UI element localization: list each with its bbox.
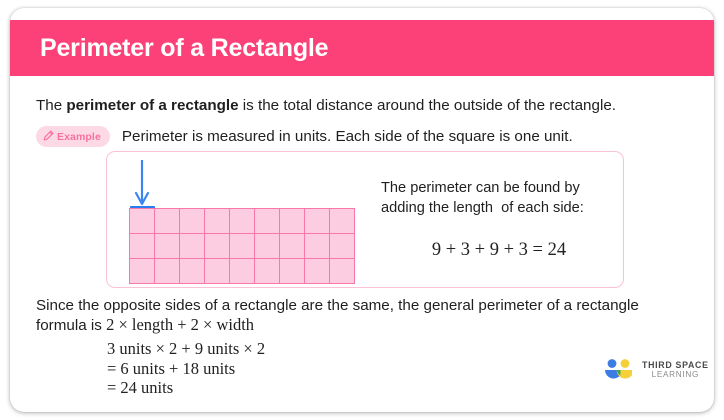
grid-cell xyxy=(330,209,355,234)
grid-cell xyxy=(205,234,230,259)
brand-logo: THIRD SPACE LEARNING xyxy=(602,358,709,382)
grid-cell xyxy=(180,209,205,234)
grid-cell xyxy=(255,234,280,259)
grid-cell xyxy=(280,234,305,259)
intro-bold-term: perimeter of a rectangle xyxy=(66,97,238,114)
intro-after: is the total distance around the outside… xyxy=(239,97,616,114)
explanation-line-1: The perimeter can be found by xyxy=(381,180,580,196)
perimeter-equation: 9 + 3 + 9 + 3 = 24 xyxy=(381,240,617,261)
example-badge-label: Example xyxy=(57,130,101,144)
bottom-line-2: formula is 2 × length + 2 × width xyxy=(36,315,696,335)
example-row: Example Perimeter is measured in units. … xyxy=(36,126,573,147)
page-title: Perimeter of a Rectangle xyxy=(10,34,328,63)
general-formula: 2 × length + 2 × width xyxy=(106,315,254,334)
grid-row xyxy=(130,209,355,234)
grid-cell xyxy=(255,209,280,234)
third-space-learning-mark-icon xyxy=(602,358,636,382)
grid-cell xyxy=(230,209,255,234)
grid-cell xyxy=(280,209,305,234)
grid-cell xyxy=(305,209,330,234)
formula-prefix: formula is xyxy=(36,317,106,334)
grid-cell xyxy=(205,209,230,234)
grid-cell xyxy=(180,259,205,284)
down-arrow-icon xyxy=(127,158,157,210)
grid-cell xyxy=(155,234,180,259)
example-badge: Example xyxy=(36,126,110,147)
logo-line-1: THIRD SPACE xyxy=(642,360,709,371)
example-description: Perimeter is measured in units. Each sid… xyxy=(122,128,573,145)
grid-cell xyxy=(130,234,155,259)
logo-line-2: LEARNING xyxy=(642,370,709,381)
calculation-steps: 3 units × 2 + 9 units × 2 = 6 units + 18… xyxy=(107,339,265,398)
grid-cell xyxy=(230,259,255,284)
intro-paragraph: The perimeter of a rectangle is the tota… xyxy=(36,96,696,116)
grid-cell xyxy=(230,234,255,259)
grid-row xyxy=(130,234,355,259)
grid-cell xyxy=(330,259,355,284)
grid-cell xyxy=(205,259,230,284)
logo-wordmark: THIRD SPACE LEARNING xyxy=(642,360,709,381)
explanation-line-2: adding the length of each side: xyxy=(381,200,584,216)
grid-cell xyxy=(305,259,330,284)
grid-cell xyxy=(305,234,330,259)
grid-cell xyxy=(130,259,155,284)
grid-cell xyxy=(130,209,155,234)
grid-cell xyxy=(180,234,205,259)
rectangle-grid-diagram xyxy=(117,156,377,286)
slide-card: Perimeter of a Rectangle The perimeter o… xyxy=(10,8,714,412)
example-box: The perimeter can be found by adding the… xyxy=(106,151,624,288)
slide-header: Perimeter of a Rectangle xyxy=(10,20,714,76)
grid-row xyxy=(130,259,355,284)
bottom-paragraph: Since the opposite sides of a rectangle … xyxy=(36,296,696,335)
pencil-icon xyxy=(43,128,54,146)
grid-cell xyxy=(155,259,180,284)
calc-step-3: = 24 units xyxy=(107,378,265,398)
explanation-text: The perimeter can be found by adding the… xyxy=(381,178,617,218)
intro-before: The xyxy=(36,97,66,114)
grid-cell xyxy=(255,259,280,284)
calc-step-2: = 6 units + 18 units xyxy=(107,359,265,379)
unit-grid xyxy=(129,208,355,284)
grid-cell xyxy=(155,209,180,234)
calc-step-1: 3 units × 2 + 9 units × 2 xyxy=(107,339,265,359)
bottom-line-1: Since the opposite sides of a rectangle … xyxy=(36,296,696,315)
grid-cell xyxy=(280,259,305,284)
grid-cell xyxy=(330,234,355,259)
